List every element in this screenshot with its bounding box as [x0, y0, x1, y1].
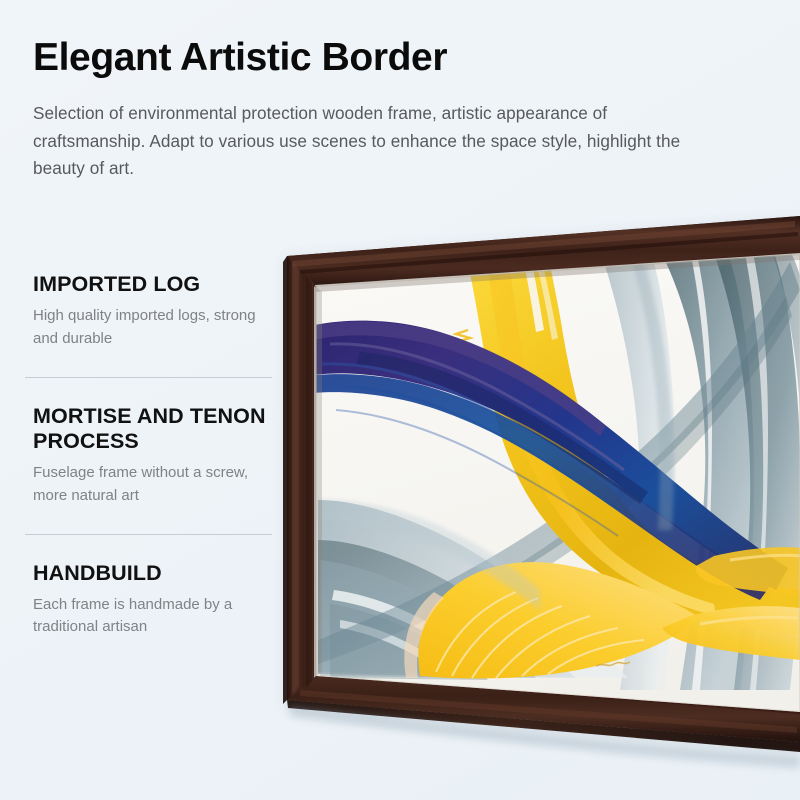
frame-rail-left	[287, 256, 318, 700]
feature-list: IMPORTED LOG High quality imported logs,…	[0, 272, 290, 639]
yellow-sweep	[466, 252, 800, 634]
feature-title: IMPORTED LOG	[33, 272, 272, 297]
frame-inner-lip-top	[315, 253, 800, 289]
page-title: Elegant Artistic Border	[33, 36, 733, 80]
blend-pass	[318, 250, 674, 610]
header: Elegant Artistic Border Selection of env…	[33, 36, 733, 183]
feature-item-handbuild: HANDBUILD Each frame is handmade by a tr…	[0, 561, 290, 639]
canvas-edge	[316, 254, 800, 712]
feature-description: Each frame is handmade by a traditional …	[33, 586, 272, 638]
canvas-ground	[300, 240, 800, 740]
yellow-fan	[418, 562, 700, 678]
frame-depth-bottom	[287, 700, 800, 752]
product-feature-page: Elegant Artistic Border Selection of env…	[0, 0, 800, 800]
rabbet-shadow-top	[316, 254, 800, 292]
feature-title: HANDBUILD	[33, 561, 272, 586]
frame-outer	[287, 216, 800, 742]
stroke-group-blue-ribbon	[286, 321, 788, 600]
page-subtitle: Selection of environmental protection wo…	[33, 80, 713, 184]
stroke-group-gray	[600, 246, 800, 690]
stroke-group-gray-lower	[318, 500, 628, 680]
frame-body	[287, 216, 800, 742]
stroke-group-yellow-right	[696, 547, 800, 596]
frame-bevel-top-highlight	[292, 221, 795, 267]
feature-description: High quality imported logs, strong and d…	[33, 297, 272, 349]
frame-inner-lip-left	[314, 286, 318, 678]
painting-canvas	[286, 240, 800, 740]
frame-bevel-bottom-highlight	[300, 690, 797, 733]
frame-bevel-left-shadow	[306, 276, 312, 688]
stroke-group-yellow-fan	[404, 562, 800, 678]
feature-item-imported-log: IMPORTED LOG High quality imported logs,…	[0, 272, 290, 350]
feature-item-mortise-and-tenon-process: MORTISE AND TENON PROCESS Fuselage frame…	[0, 404, 290, 507]
stroke-group-teal-band	[318, 262, 800, 664]
feature-description: Fuselage frame without a screw, more nat…	[33, 454, 272, 506]
rabbet-shadow-left	[316, 286, 322, 676]
frame-bevel-top-shadow	[300, 232, 798, 274]
feature-divider	[25, 534, 272, 535]
signature-mark	[596, 662, 630, 666]
frame-bevel-left-highlight	[292, 262, 299, 694]
feature-title: MORTISE AND TENON PROCESS	[33, 404, 272, 455]
frame-rail-top	[287, 216, 800, 287]
feature-divider	[25, 377, 272, 378]
stroke-group-yellow-main	[456, 252, 800, 634]
frame-rail-bottom	[287, 676, 800, 742]
blue-ribbon	[306, 321, 788, 590]
frame-ground-shadow	[290, 706, 800, 768]
